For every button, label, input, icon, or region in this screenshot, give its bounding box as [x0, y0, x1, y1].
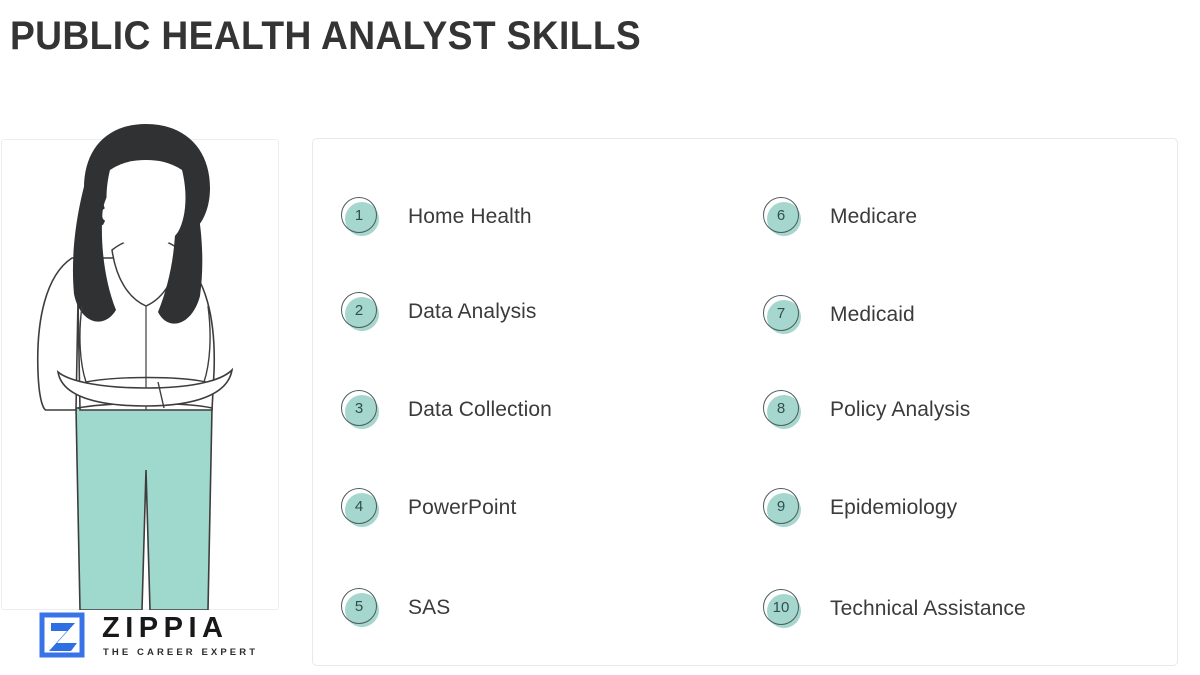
rank-badge: 4	[341, 488, 381, 528]
rank-badge: 1	[341, 197, 381, 237]
list-item[interactable]: 2 Data Analysis	[341, 292, 537, 332]
rank-number: 1	[341, 197, 377, 233]
skill-label: PowerPoint	[408, 496, 516, 520]
rank-number: 10	[763, 589, 799, 625]
rank-badge: 8	[763, 390, 803, 430]
rank-number: 6	[763, 197, 799, 233]
list-item[interactable]: 8 Policy Analysis	[763, 390, 970, 430]
zippia-logo[interactable]: ZIPPIA THE CAREER EXPERT	[38, 610, 258, 660]
rank-number: 2	[341, 292, 377, 328]
list-item[interactable]: 3 Data Collection	[341, 390, 552, 430]
skill-label: Data Analysis	[408, 300, 537, 324]
rank-badge: 7	[763, 295, 803, 335]
skill-label: Epidemiology	[830, 496, 957, 520]
list-item[interactable]: 9 Epidemiology	[763, 488, 957, 528]
skill-label: Home Health	[408, 205, 532, 229]
rank-badge: 5	[341, 588, 381, 628]
rank-badge: 6	[763, 197, 803, 237]
zippia-wordmark: ZIPPIA	[102, 614, 258, 643]
rank-badge: 10	[763, 589, 803, 629]
list-item[interactable]: 10 Technical Assistance	[763, 589, 1026, 629]
rank-badge: 9	[763, 488, 803, 528]
page-title: PUBLIC HEALTH ANALYST SKILLS	[10, 14, 641, 59]
list-item[interactable]: 1 Home Health	[341, 197, 532, 237]
pants-shape	[76, 408, 212, 610]
rank-number: 5	[341, 588, 377, 624]
skill-label: SAS	[408, 596, 450, 620]
rank-number: 7	[763, 295, 799, 331]
list-item[interactable]: 5 SAS	[341, 588, 450, 628]
list-item[interactable]: 7 Medicaid	[763, 295, 915, 335]
skill-label: Technical Assistance	[830, 597, 1026, 621]
list-item[interactable]: 4 PowerPoint	[341, 488, 516, 528]
zippia-tagline: THE CAREER EXPERT	[103, 647, 258, 658]
skill-label: Data Collection	[408, 398, 552, 422]
rank-badge: 3	[341, 390, 381, 430]
rank-number: 9	[763, 488, 799, 524]
skill-label: Medicare	[830, 205, 917, 229]
rank-number: 4	[341, 488, 377, 524]
rank-badge: 2	[341, 292, 381, 332]
skill-label: Policy Analysis	[830, 398, 970, 422]
rank-number: 8	[763, 390, 799, 426]
skill-label: Medicaid	[830, 303, 915, 327]
woman-crossed-arms-illustration	[0, 110, 290, 610]
rank-number: 3	[341, 390, 377, 426]
zippia-z-logo-icon	[38, 610, 88, 660]
skills-card: 1 Home Health 2 Data Analysis 3 Data Col…	[312, 138, 1178, 666]
list-item[interactable]: 6 Medicare	[763, 197, 917, 237]
